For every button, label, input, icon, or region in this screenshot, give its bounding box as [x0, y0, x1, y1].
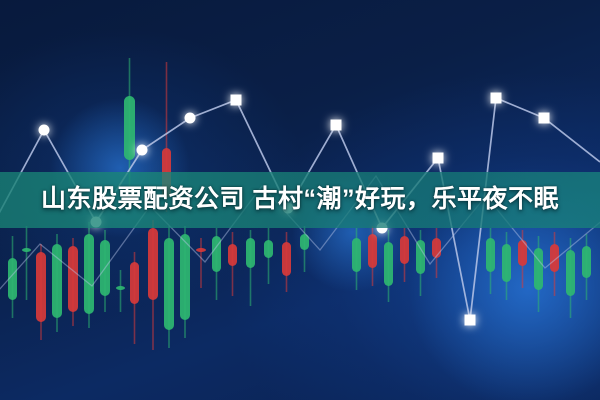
page-title: 山东股票配资公司 古村“潮”好玩，乐平夜不眠 — [0, 183, 600, 217]
banner-image: 山东股票配资公司 古村“潮”好玩，乐平夜不眠 — [0, 0, 600, 400]
